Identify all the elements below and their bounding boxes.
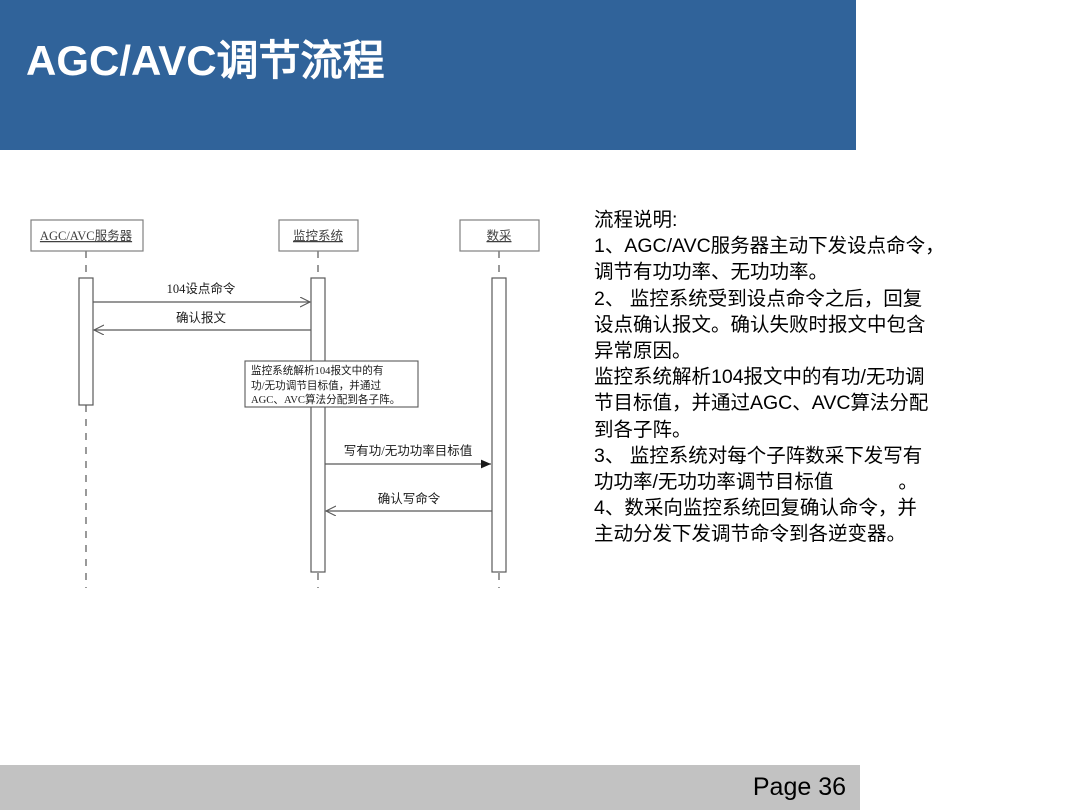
desc-line-7: 监控系统解析104报文中的有功/无功调: [594, 364, 964, 390]
message-2-label: 确认报文: [176, 310, 227, 325]
desc-line-6: 异常原因。: [594, 338, 964, 364]
message-4: 确认写命令: [326, 491, 492, 511]
participant-label-dau: 数采: [486, 228, 512, 243]
message-4-label: 确认写命令: [378, 491, 441, 506]
process-description-panel: 流程说明: 1、AGC/AVC服务器主动下发设点命令， 调节有功功率、无功功率。…: [594, 207, 964, 548]
desc-line-9: 到各子阵。: [594, 417, 964, 443]
message-1: 104设点命令: [93, 281, 310, 302]
activation-bar-agc: [79, 278, 93, 405]
slide-canvas: AGC/AVC调节流程: [0, 0, 1080, 810]
sequence-diagram: AGC/AVC服务器 监控系统 数采 104设点命令 确认报文: [0, 0, 580, 640]
desc-line-4: 2、 监控系统受到设点命令之后，回复: [594, 286, 964, 312]
activation-bar-scada: [311, 278, 325, 572]
desc-line-12: 4、数采向监控系统回复确认命令，并: [594, 495, 964, 521]
desc-line-1: 流程说明:: [594, 207, 964, 233]
message-1-label: 104设点命令: [167, 281, 236, 296]
participant-labels: AGC/AVC服务器 监控系统 数采: [40, 228, 512, 243]
note-box: 监控系统解析104报文中的有 功/无功调节目标值，并通过 AGC、AVC算法分配…: [245, 361, 418, 407]
note-line-2: 功/无功调节目标值，并通过: [251, 379, 381, 392]
note-line-3: AGC、AVC算法分配到各子阵。: [251, 393, 400, 406]
desc-line-11: 功功率/无功功率调节目标值 。: [594, 469, 964, 495]
desc-line-5: 设点确认报文。确认失败时报文中包含: [594, 312, 964, 338]
message-3-label: 写有功/无功功率目标值: [344, 443, 472, 458]
activation-bar-dau: [492, 278, 506, 572]
desc-line-10: 3、 监控系统对每个子阵数采下发写有: [594, 443, 964, 469]
page-number: Page 36: [0, 765, 846, 810]
note-line-1: 监控系统解析104报文中的有: [251, 364, 383, 377]
participant-label-scada: 监控系统: [293, 229, 343, 243]
activation-bars: [79, 278, 506, 572]
desc-line-13: 主动分发下发调节命令到各逆变器。: [594, 521, 964, 547]
svg-text:监控系统解析104报文中的有 功/无功调: 监控系统解析104报文中的有 功/无功调节目标值，并通过 AGC、AVC算法分配…: [251, 364, 400, 406]
desc-line-8: 节目标值，并通过AGC、AVC算法分配: [594, 390, 964, 416]
desc-line-2: 1、AGC/AVC服务器主动下发设点命令，: [594, 233, 964, 259]
message-3: 写有功/无功功率目标值: [325, 443, 491, 464]
participant-label-agc: AGC/AVC服务器: [40, 228, 133, 243]
desc-line-3: 调节有功功率、无功功率。: [594, 259, 964, 285]
message-2: 确认报文: [94, 310, 311, 330]
